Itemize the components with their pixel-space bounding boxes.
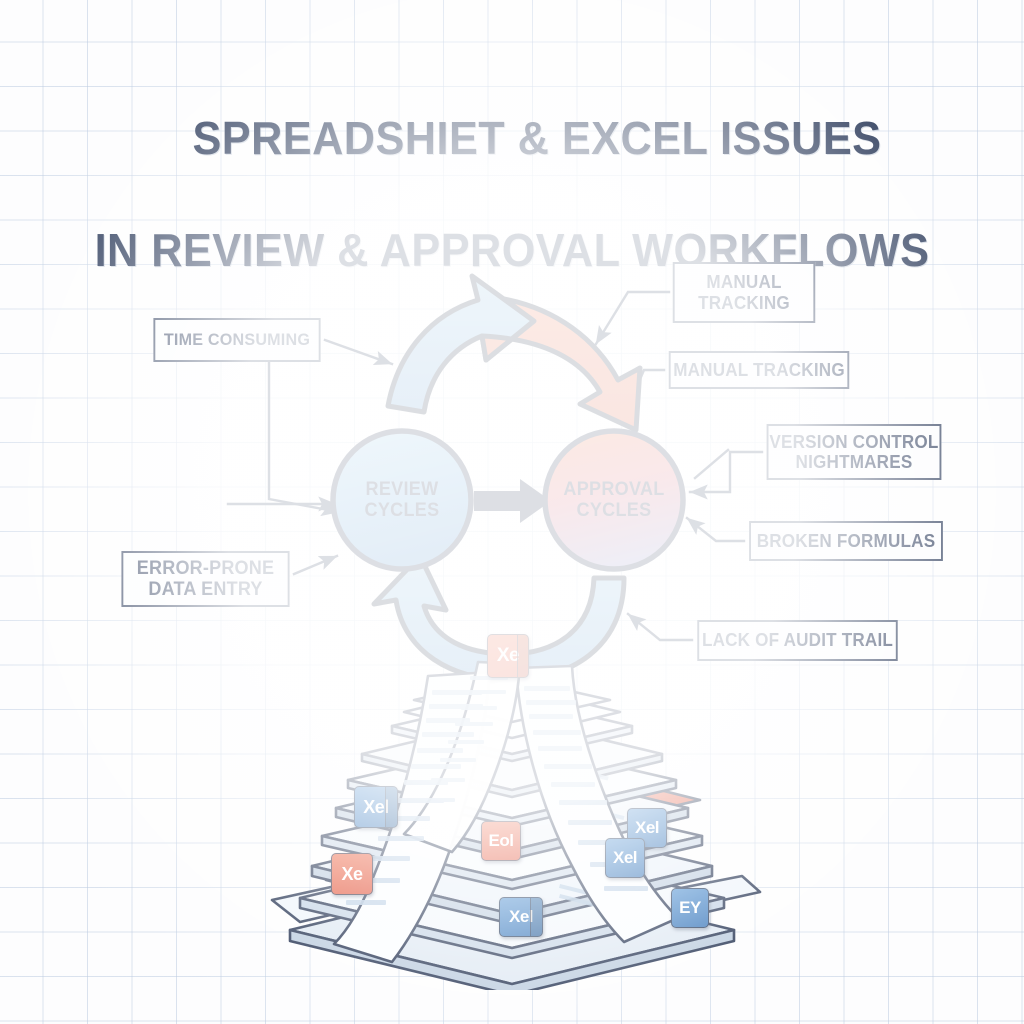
label-time-consuming[interactable]: TIME CONSUMING xyxy=(153,318,320,362)
label-manual-tracking-2[interactable]: MANUAL TRACKING xyxy=(669,351,850,389)
label-manual-tracking-1[interactable]: MANUAL TRACKING xyxy=(673,262,816,323)
excel-badge-icon: Eol xyxy=(481,821,521,861)
excel-badge-icon: Xe xyxy=(487,634,529,678)
connector-audit-trail xyxy=(628,614,692,640)
label-version-control-line-1: VERSION CONTROL xyxy=(769,432,938,452)
node-approval-label: APPROVAL CYCLES xyxy=(549,479,678,522)
connector-manual-1 xyxy=(596,292,669,344)
node-review-label: REVIEW CYCLES xyxy=(341,479,463,522)
label-lack-of-audit-trail-text: LACK OF AUDIT TRAIL xyxy=(702,630,893,650)
excel-badge-text: Eol xyxy=(489,831,514,851)
label-version-control-nightmares[interactable]: VERSION CONTROL NIGHTMARES xyxy=(767,424,942,480)
label-time-consuming-text: TIME CONSUMING xyxy=(164,330,310,349)
label-error-prone-line-2: DATA ENTRY xyxy=(137,579,274,600)
label-error-prone-line-1: ERROR-PRONE xyxy=(137,558,274,579)
connector-error-prone-a xyxy=(294,556,337,574)
label-broken-formulas[interactable]: BROKEN FORMULAS xyxy=(749,521,943,561)
excel-badge-icon: Xe xyxy=(331,853,373,895)
excel-badge-icon: Xel xyxy=(499,897,543,937)
connector-time-consuming xyxy=(269,362,339,512)
node-approval-line-2: CYCLES xyxy=(549,500,678,521)
center-arrow-icon xyxy=(474,479,551,523)
excel-badge-text: EY xyxy=(679,898,701,918)
excel-badge-text: Xel xyxy=(635,818,659,838)
connector-time-to-arrow xyxy=(325,340,392,364)
node-review-line-2: CYCLES xyxy=(341,500,463,521)
top-cycle-arrow xyxy=(388,276,640,430)
connector-broken-formulas xyxy=(687,518,744,541)
excel-badge-text: Xel xyxy=(613,848,637,868)
label-version-control-line-2: NIGHTMARES xyxy=(769,452,938,472)
label-lack-of-audit-trail[interactable]: LACK OF AUDIT TRAIL xyxy=(697,620,897,661)
label-error-prone-data-entry[interactable]: ERROR-PRONE DATA ENTRY xyxy=(121,551,289,607)
excel-badge-tab xyxy=(530,898,542,936)
node-review-line-1: REVIEW xyxy=(341,479,463,500)
label-broken-formulas-text: BROKEN FORMULAS xyxy=(757,531,936,551)
excel-badge-tab xyxy=(385,787,397,827)
connector-version-control-diag xyxy=(695,450,728,478)
label-manual-tracking-1-line-2: TRACKING xyxy=(698,293,790,313)
node-approval-line-1: APPROVAL xyxy=(549,479,678,500)
label-manual-tracking-2-text: MANUAL TRACKING xyxy=(673,360,845,380)
excel-badge-text: Xe xyxy=(341,864,362,885)
infographic-canvas: SPREADSHIET & EXCEL ISSUES IN REVIEW & A… xyxy=(0,0,1024,1024)
excel-badge-icon: EY xyxy=(671,888,709,928)
excel-badge-icon: Xel xyxy=(354,786,398,828)
excel-badge-tab xyxy=(517,635,528,677)
diagram-artwork xyxy=(0,0,1024,1024)
excel-badge-icon: Xel xyxy=(605,838,645,878)
label-manual-tracking-1-line-1: MANUAL xyxy=(698,272,790,292)
